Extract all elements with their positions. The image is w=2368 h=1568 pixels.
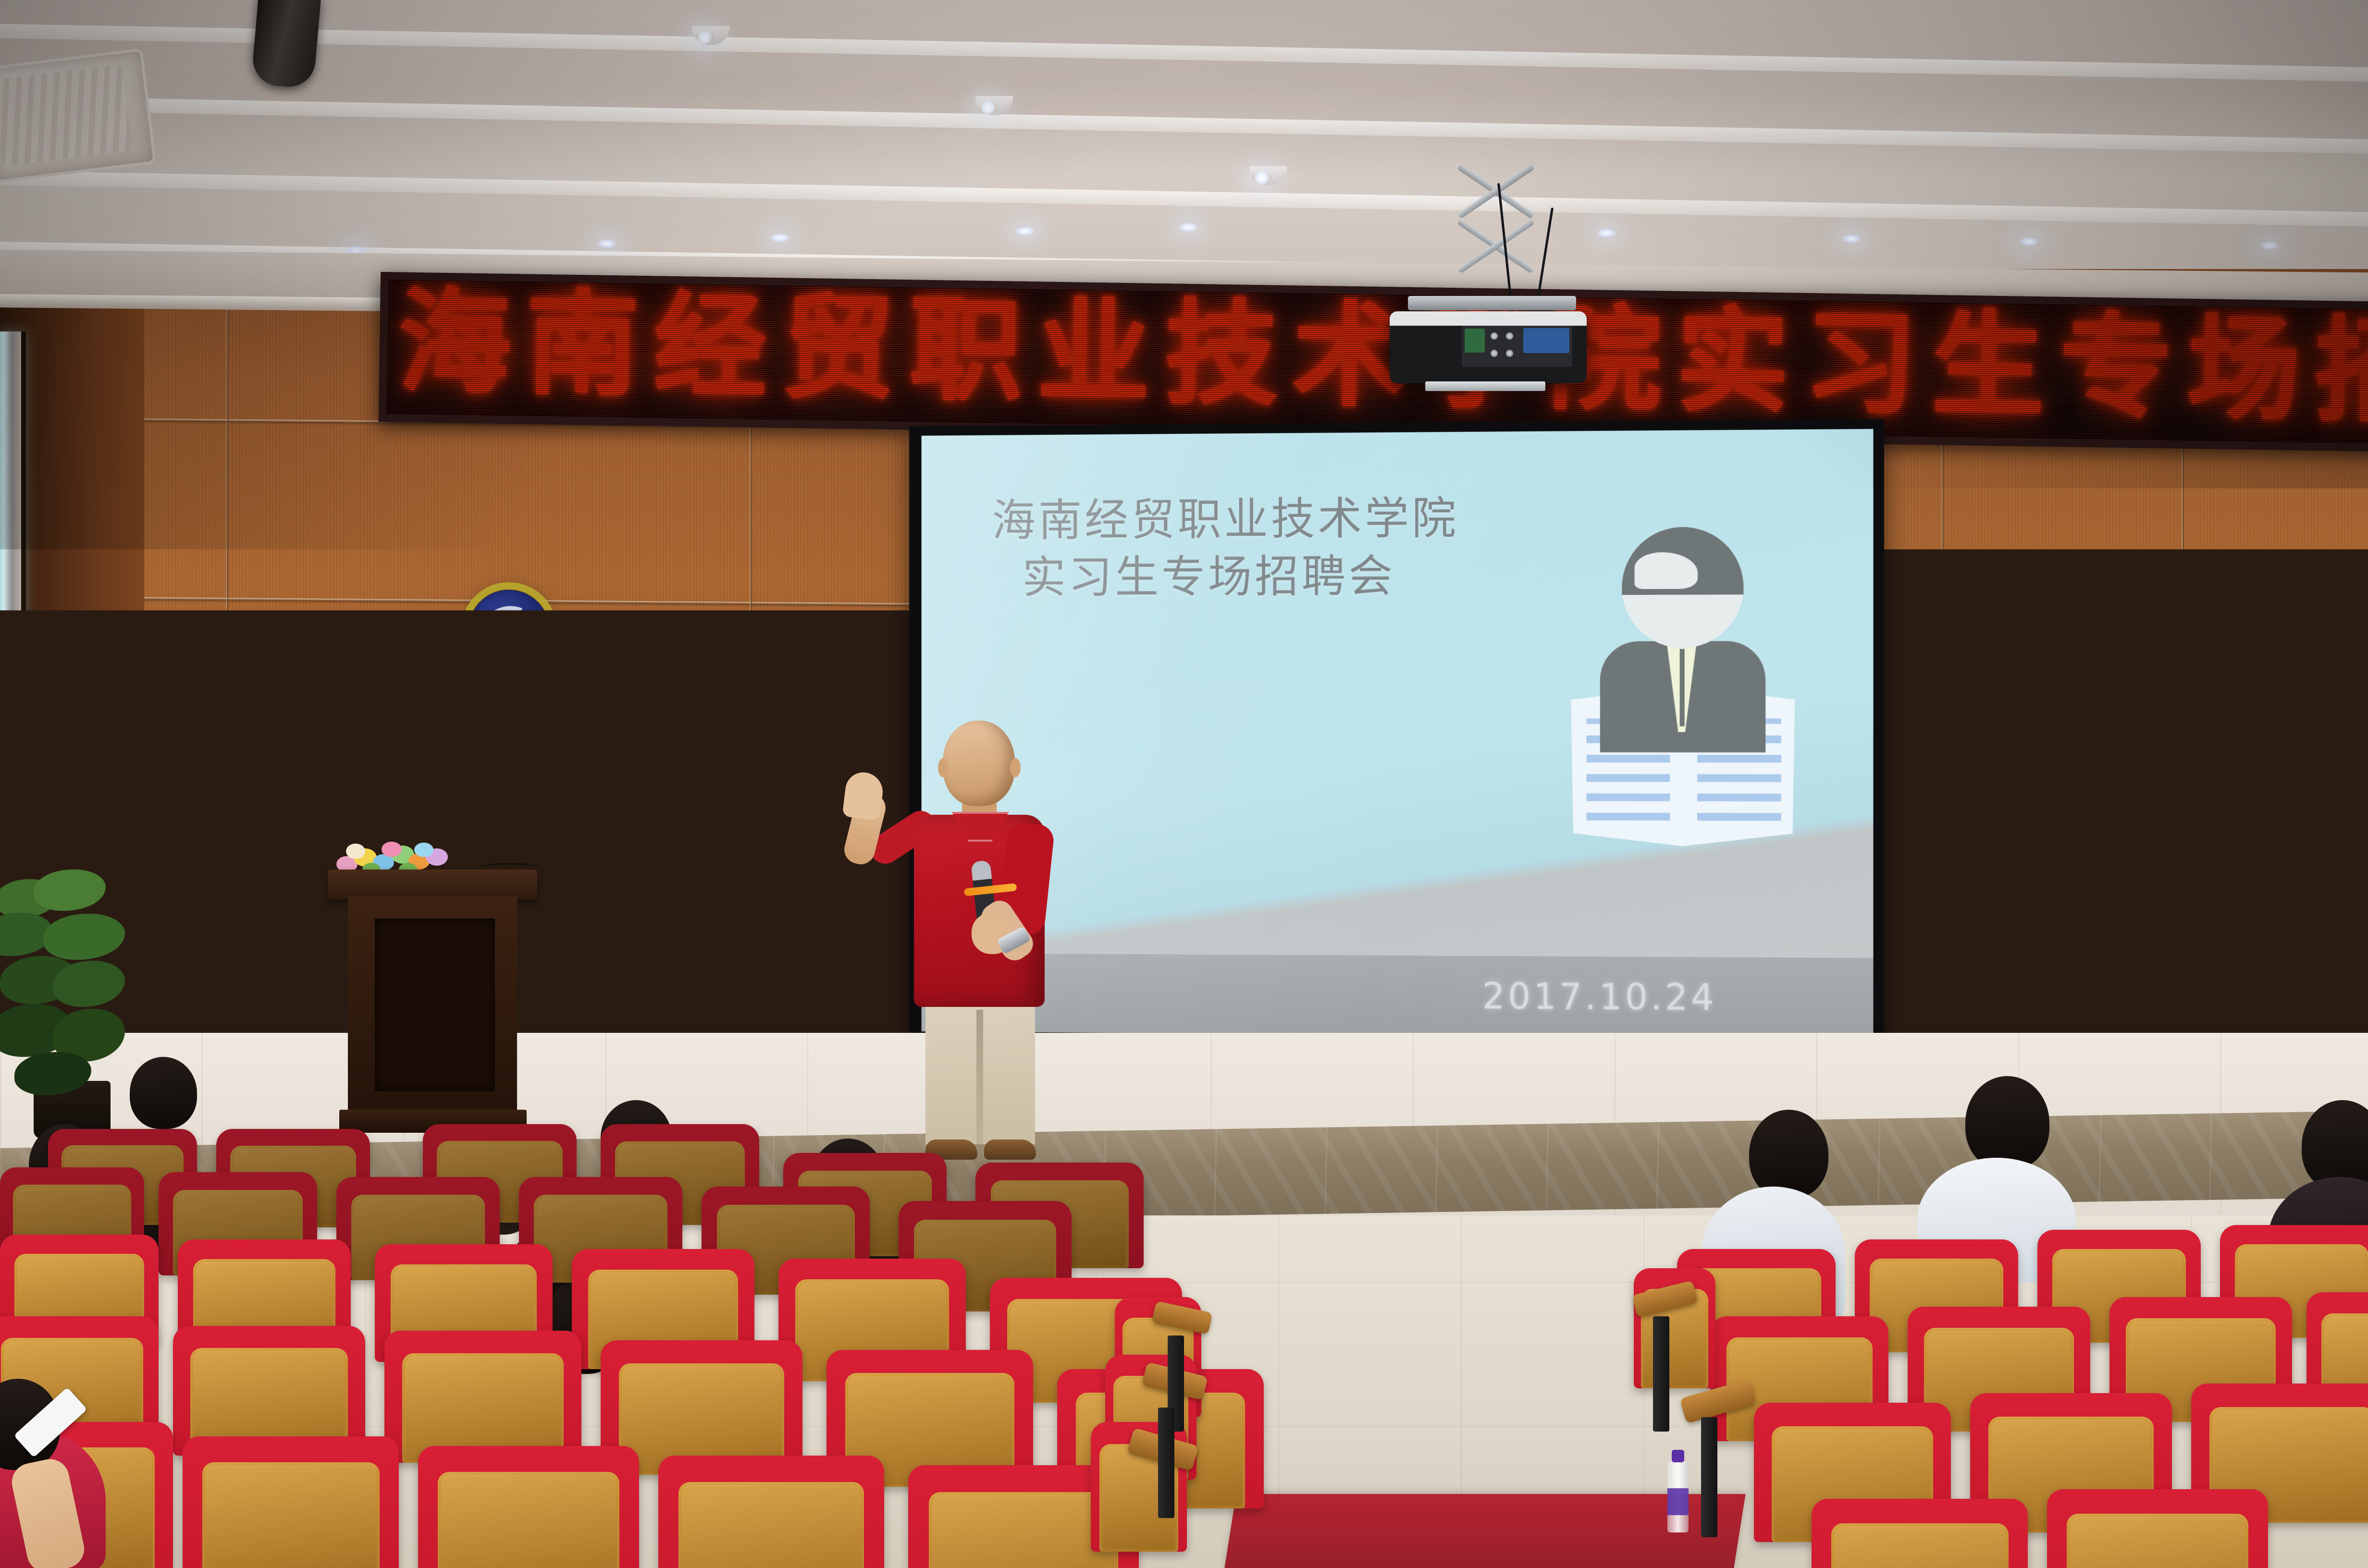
presenter-ear [938,758,949,777]
podium [336,870,529,1139]
slide-title-line1: 海南经贸职业技术学院 [992,489,1565,550]
auditorium-seat[interactable] [418,1446,639,1568]
spotlight [1840,233,1862,244]
seat-leg [1158,1408,1174,1518]
spotlight [1177,222,1199,233]
spotlight [596,238,618,249]
projector-base-plate [1425,381,1545,391]
ceiling-light [1249,166,1287,185]
emblem-year: 1984 [469,648,549,659]
audience-head [130,1057,197,1129]
podium-top [328,870,537,899]
presenter-ear [1010,758,1021,777]
spotlight [769,233,791,243]
paper-booklet[interactable] [688,1379,767,1446]
projector-body [1390,311,1587,383]
slide-title-line2: 实习生专场招聘会 [1022,547,1565,606]
presenter-head [943,721,1015,806]
podium-front-panel [375,919,495,1091]
projector-port-panel [1462,326,1572,367]
seat-leg [1701,1417,1717,1537]
hanging-speaker [251,0,321,89]
spotlight [2018,236,2040,247]
auditorium-seat[interactable] [384,1331,581,1463]
ceiling-light [975,96,1013,115]
ceiling-strip [0,22,2368,84]
auditorium-seat[interactable] [1812,1499,2028,1568]
audience-head [1749,1110,1828,1199]
school-emblem-right: B AEC [2225,590,2292,657]
presenter [879,721,1072,1163]
auditorium-seat[interactable] [183,1436,399,1568]
podium-body [348,896,517,1113]
presenter-trousers [925,995,1035,1144]
microphone-cable [481,863,538,872]
scissor-lift-mount [1451,178,1533,312]
spotlight [2258,240,2281,251]
emblem-abbr: AEC [2225,636,2292,650]
side-door-opening [0,331,26,687]
ceiling-projector [1379,178,1605,428]
seat-leg [1653,1316,1669,1432]
water-bottle[interactable] [1667,1460,1689,1532]
businessman-reading-book-icon [1571,527,1795,846]
auditorium-photo-scene: 海南经贸职业技术学院实习生专场招聘会 CB 1984 B AEC 海南经贸职业技… [0,0,2368,1568]
spotlight [1014,226,1036,236]
projector-mount-plate [1408,296,1576,310]
slide-date: 2017.10.24 [1482,976,1717,1018]
audience-head [1965,1076,2049,1170]
auditorium-seat[interactable] [658,1456,884,1568]
slide-title: 海南经贸职业技术学院 实习生专场招聘会 [992,489,1565,607]
auditorium-seat[interactable] [2047,1489,2268,1568]
presenter-shoe [984,1139,1036,1160]
ceiling-strip [0,169,2368,229]
air-conditioner-vent [0,48,156,184]
school-emblem-left: CB 1984 [469,590,549,671]
ceiling-strip [0,94,2368,156]
